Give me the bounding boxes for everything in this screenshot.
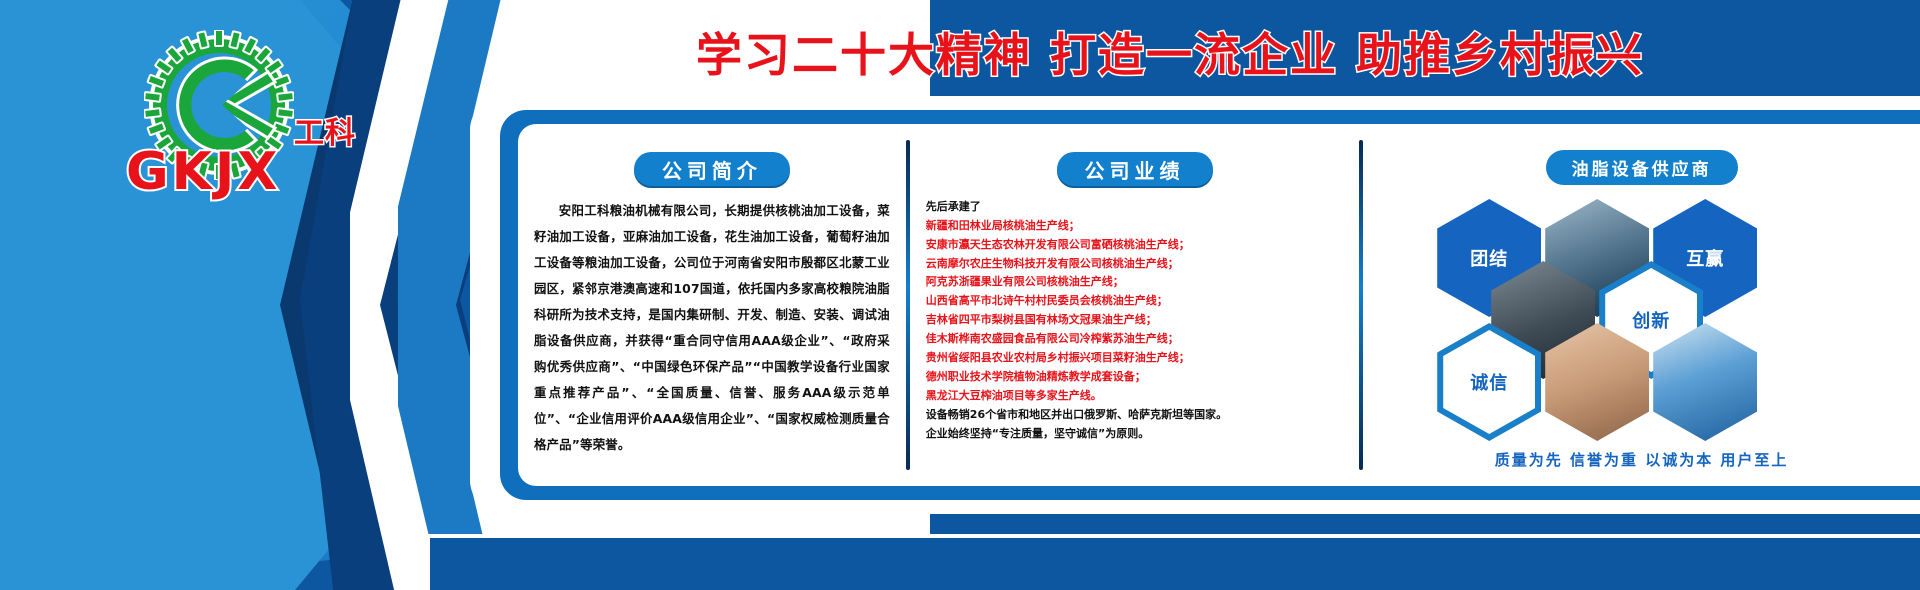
banner-title: 学习二十大精神 打造一流企业 助推乡村振兴 [696,19,1644,85]
supplier-heading: 油脂设备供应商 [1572,160,1712,180]
logo-chinese-name: 工科 [294,108,356,152]
bottom-blue-bar [430,538,1920,590]
hex-label-chengxin: 诚信 [1470,369,1508,395]
company-logo: 工科 GKJX [120,30,350,220]
content-panels: 公司简介 安阳工科粮油机械有限公司，长期提供核桃油加工设备，菜籽油加工设备，亚麻… [518,124,1920,486]
supplier-slogan: 质量为先 信誉为重 以诚为本 用户至上 [1363,449,1920,470]
supplier-heading-pill: 油脂设备供应商 [1546,150,1738,185]
performance-item: 山西省高平市北诗午村村民委员会核桃油生产线； [926,292,1343,311]
hex-label-tuanjie: 团结 [1470,245,1508,271]
performance-item: 新疆和田林业局核桃油生产线； [926,217,1343,236]
about-body-text: 安阳工科粮油机械有限公司，长期提供核桃油加工设备，菜籽油加工设备，亚麻油加工设备… [534,198,890,458]
performance-item: 安康市瀛天生态农林开发有限公司富硒核桃油生产线； [926,236,1343,255]
performance-item: 吉林省四平市梨树县国有林场文冠果油生产线； [926,311,1343,330]
performance-footer-line: 企业始终坚持“专注质量，坚守诚信”为原则。 [926,425,1343,444]
hex-cluster: 团结 互赢 创新 诚信 [1379,191,1904,419]
performance-lead: 先后承建了 [926,198,1343,217]
performance-item: 贵州省绥阳县农业农村局乡村振兴项目菜籽油生产线； [926,349,1343,368]
poster-canvas: 工科 GKJX 学习二十大精神 打造一流企业 助推乡村振兴 公司简介 安阳工科粮… [0,0,1920,590]
hex-label-chuangxin: 创新 [1632,307,1670,333]
performance-item: 佳木斯桦南农盛园食品有限公司冷榨紫苏油生产线； [926,330,1343,349]
panel-about: 公司简介 安阳工科粮油机械有限公司，长期提供核桃油加工设备，菜籽油加工设备，亚麻… [518,124,906,486]
panel-supplier: 油脂设备供应商 团结 互赢 创新 [1363,124,1920,486]
performance-footer: 设备畅销26个省市和地区并出口俄罗斯、哈萨克斯坦等国家。企业始终坚持“专注质量，… [926,406,1343,444]
performance-item: 黑龙江大豆榨油项目等多家生产线。 [926,387,1343,406]
performance-item: 云南摩尔农庄生物科技开发有限公司核桃油生产线； [926,255,1343,274]
performance-list: 新疆和田林业局核桃油生产线；安康市瀛天生态农林开发有限公司富硒核桃油生产线；云南… [926,217,1343,406]
performance-item: 德州职业技术学院植物油精炼教学成套设备； [926,368,1343,387]
performance-heading-pill: 公司业绩 [1057,152,1213,186]
performance-heading: 公司业绩 [1085,155,1185,184]
about-heading: 公司简介 [662,155,762,184]
about-heading-pill: 公司简介 [634,152,790,186]
performance-footer-line: 设备畅销26个省市和地区并出口俄罗斯、哈萨克斯坦等国家。 [926,406,1343,425]
panel-performance: 公司业绩 先后承建了 新疆和田林业局核桃油生产线；安康市瀛天生态农林开发有限公司… [910,124,1359,486]
performance-item: 阿克苏浙疆果业有限公司核桃油生产线； [926,273,1343,292]
hex-label-huying: 互赢 [1686,245,1724,271]
banner-title-bar: 学习二十大精神 打造一流企业 助推乡村振兴 [440,14,1900,90]
logo-english-name: GKJX [126,142,280,202]
